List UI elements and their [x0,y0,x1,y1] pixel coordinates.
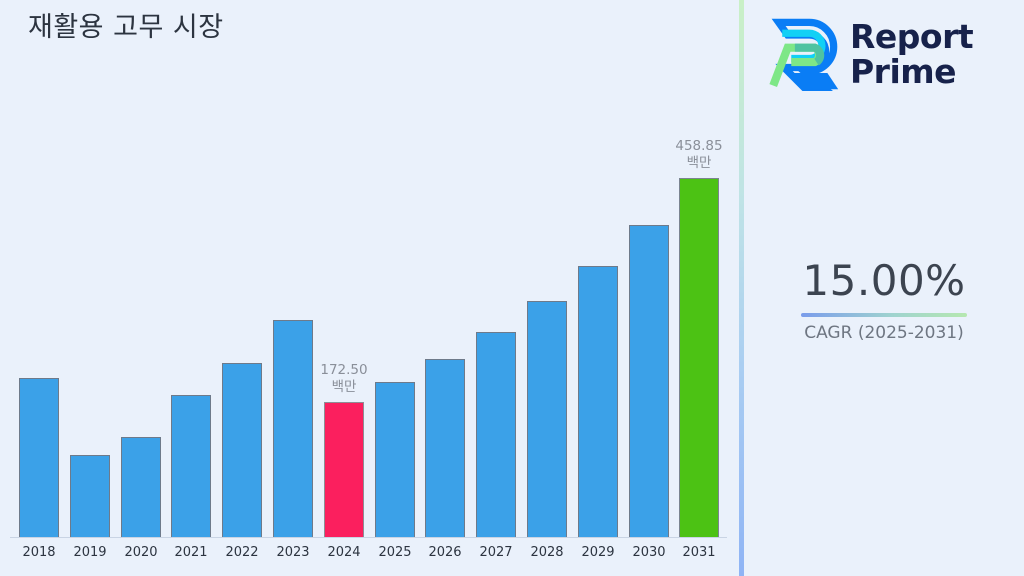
bar-2018[interactable] [19,378,59,537]
cagr-value: 15.00% [744,255,1024,307]
bar-chart-plot: 2018201920202021202220232024202520262027… [0,0,740,576]
bar-2024[interactable] [324,402,364,537]
x-tick-2031: 2031 [669,544,729,562]
bar-2028[interactable] [527,301,567,537]
bar-2019[interactable] [70,455,110,537]
bar-2027[interactable] [476,332,516,537]
bar-2029[interactable] [578,266,618,537]
brand-name-line2: Prime [850,54,973,89]
bar-2022[interactable] [222,363,262,537]
x-axis-line [10,537,727,538]
infographic-root: 재활용 고무 시장 201820192020202120222023202420… [0,0,1024,576]
brand-panel: Report Prime 15.00% CAGR (2025-2031) [744,0,1024,576]
brand-name-line1: Report [850,19,973,54]
bar-2031[interactable] [679,178,719,537]
bar-2020[interactable] [121,437,161,537]
brand-logo: Report Prime [764,8,1012,100]
chart-panel: 재활용 고무 시장 201820192020202120222023202420… [0,0,740,576]
cagr-block: 15.00% CAGR (2025-2031) [744,255,1024,345]
bar-2026[interactable] [425,359,465,537]
cagr-divider-rule [801,313,967,317]
bar-2030[interactable] [629,225,669,537]
bar-2025[interactable] [375,382,415,537]
report-prime-r-logo-icon [764,17,842,91]
bar-2023[interactable] [273,320,313,537]
bar-2021[interactable] [171,395,211,537]
cagr-caption: CAGR (2025-2031) [744,322,1024,345]
brand-wordmark: Report Prime [850,19,973,89]
